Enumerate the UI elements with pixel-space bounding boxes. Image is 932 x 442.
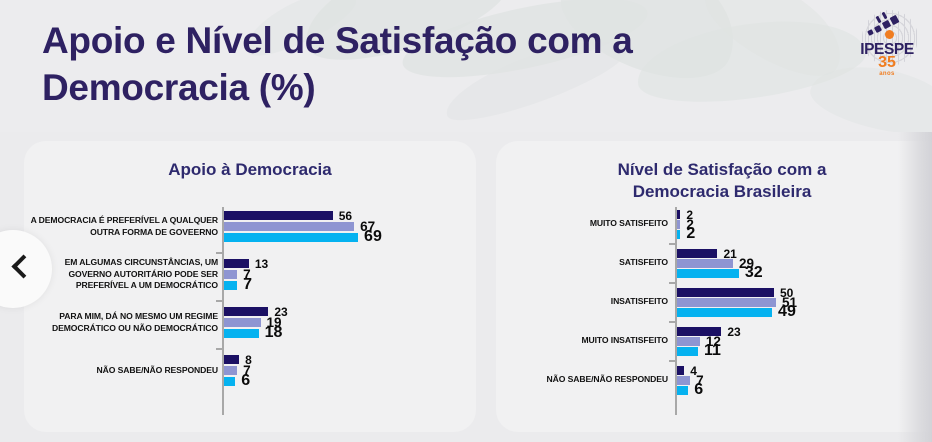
bar-2022_02_02 — [224, 281, 238, 290]
axis-tick — [216, 348, 222, 350]
chart-card-satisfacao: Nível de Satisfação com a Democracia Bra… — [496, 141, 932, 432]
bar-2022_02_02 — [677, 269, 739, 278]
bar-2018_10 — [677, 210, 681, 219]
axis-tick — [669, 282, 675, 284]
chevron-left-icon — [11, 254, 35, 278]
chart-title-right: Nível de Satisfação com a Democracia Bra… — [496, 159, 932, 203]
category-label: PARA MIM, DÁ NO MESMO UM REGIME DEMOCRÁT… — [26, 311, 218, 334]
bar-2018_10 — [677, 249, 718, 258]
category-label: NÃO SABE/NÃO RESPONDEU — [26, 365, 218, 377]
bar-2022_02_02 — [224, 329, 259, 338]
bar-2022_02 — [224, 318, 261, 327]
logo-years-label: anos — [854, 71, 920, 77]
axis-tick — [669, 321, 675, 323]
category-label: EM ALGUMAS CIRCUNSTÂNCIAS, UM GOVERNO AU… — [26, 257, 218, 292]
category-label: SATISFEITO — [516, 257, 668, 269]
bar-2018_10 — [224, 307, 269, 316]
logo-years: 35 — [854, 55, 920, 71]
ipespe-logo: IPESPE 35 anos — [854, 8, 920, 84]
bar-value-label: 18 — [265, 324, 283, 342]
bar-2022_02 — [224, 366, 238, 375]
category-label: A DEMOCRACIA É PREFERÍVEL A QUALQUER OUT… — [26, 215, 218, 238]
bar-value-label: 56 — [339, 209, 352, 223]
chart-card-apoio: Apoio à Democracia A DEMOCRACIA É PREFER… — [24, 141, 476, 432]
category-label: MUITO INSATISFEITO — [516, 335, 668, 347]
bar-2022_02_02 — [224, 233, 359, 242]
logo-accent-dot-icon — [885, 30, 894, 39]
bar-value-label: 11 — [704, 342, 721, 360]
bar-2022_02_02 — [677, 386, 689, 395]
bar-value-label: 2 — [686, 225, 695, 243]
bar-2018_10 — [224, 355, 240, 364]
bar-2022_02 — [677, 259, 734, 268]
bar-2018_10 — [677, 288, 775, 297]
page-header: Apoio e Nível de Satisfação com a Democr… — [0, 0, 932, 132]
bar-2022_02 — [677, 220, 681, 229]
axis-tick — [669, 360, 675, 362]
bar-2022_02 — [224, 270, 238, 279]
page-title: Apoio e Nível de Satisfação com a Democr… — [42, 18, 742, 112]
bar-value-label: 49 — [778, 303, 796, 321]
axis-tick — [669, 243, 675, 245]
bar-2022_02 — [224, 222, 355, 231]
bar-2022_02_02 — [677, 230, 681, 239]
chart-title-left: Apoio à Democracia — [24, 159, 476, 181]
chart-plot-right: MUITO SATISFEITO222SATISFEITO212932INSAT… — [496, 207, 932, 415]
category-label: MUITO SATISFEITO — [516, 218, 668, 230]
bar-value-label: 23 — [727, 325, 740, 339]
bar-2022_02 — [677, 337, 700, 346]
bar-value-label: 7 — [243, 276, 252, 294]
category-label: NÃO SABE/NÃO RESPONDEU — [516, 374, 668, 386]
bar-2018_10 — [677, 366, 685, 375]
axis-tick — [216, 300, 222, 302]
bar-value-label: 32 — [745, 264, 763, 282]
bar-2022_02_02 — [224, 377, 236, 386]
bar-value-label: 6 — [241, 372, 250, 390]
chart-title-right-line1: Nível de Satisfação com a — [618, 160, 827, 179]
category-label: INSATISFEITO — [516, 296, 668, 308]
bar-2022_02_02 — [677, 347, 698, 356]
bar-2018_10 — [224, 211, 333, 220]
bar-value-label: 6 — [694, 381, 703, 399]
bar-value-label: 69 — [364, 228, 382, 246]
axis-tick — [216, 252, 222, 254]
chart-title-right-line2: Democracia Brasileira — [633, 182, 812, 201]
bar-2022_02_02 — [677, 308, 773, 317]
chart-plot-left: A DEMOCRACIA É PREFERÍVEL A QUALQUER OUT… — [24, 207, 476, 415]
bar-value-label: 13 — [255, 257, 268, 271]
bar-2022_02 — [677, 298, 776, 307]
bar-2022_02 — [677, 376, 691, 385]
